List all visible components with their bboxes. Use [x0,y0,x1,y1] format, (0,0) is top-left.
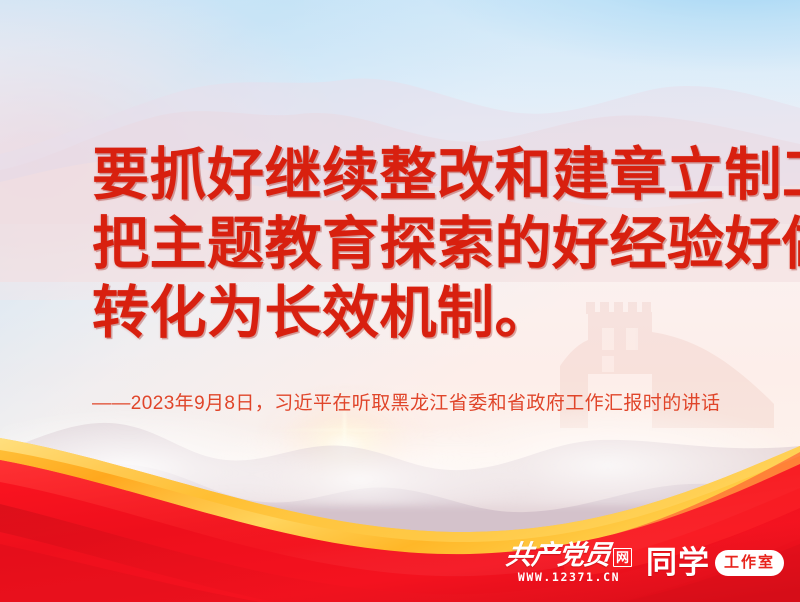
logo-group: 共产党员 网 WWW.12371.CN 同学 工作室 [506,542,784,584]
logo-site-net-char: 网 [613,548,632,568]
logo-studio-pill-text: 工作室 [715,550,784,576]
quote-attribution: ——2023年9月8日，习近平在听取黑龙江省委和省政府工作汇报时的讲话 [92,391,720,417]
poster-headline: 要抓好继续整改和建章立制工作, 把主题教育探索的好经验好做法 转化为长效机制。 [92,141,752,348]
logo-gongchandangyuanwang[interactable]: 共产党员 网 WWW.12371.CN [506,542,632,584]
logo-site-url: WWW.12371.CN [518,570,620,584]
poster-canvas: 要抓好继续整改和建章立制工作, 把主题教育探索的好经验好做法 转化为长效机制。 … [0,0,800,602]
headline-line-3: 转化为长效机制。 [92,279,752,348]
headline-line-2: 把主题教育探索的好经验好做法 [92,210,752,279]
logo-studio-main-text: 同学 [646,548,710,579]
logo-site-mark: 共产党员 网 [506,542,632,569]
headline-line-1: 要抓好继续整改和建章立制工作, [92,141,752,210]
logo-site-brush-text: 共产党员 [504,542,612,569]
logo-tongxue-studio[interactable]: 同学 工作室 [646,548,784,579]
